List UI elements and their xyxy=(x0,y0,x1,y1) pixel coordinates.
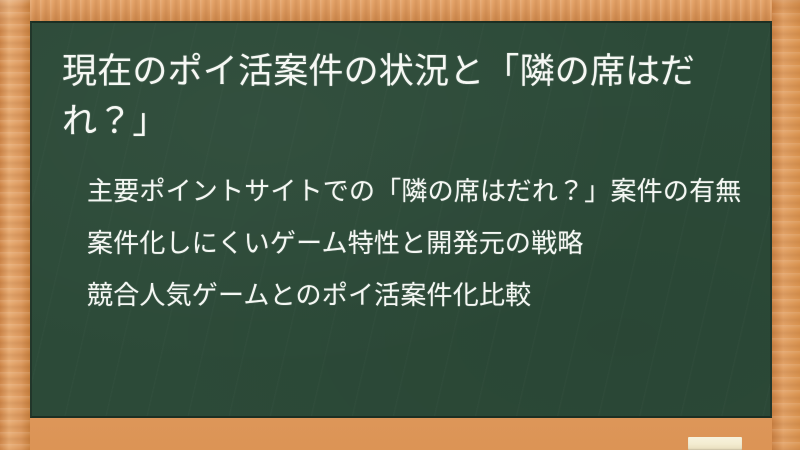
frame-rail-top xyxy=(0,0,800,21)
frame-rail-left xyxy=(0,0,30,450)
chalk-stick-icon xyxy=(688,437,742,450)
frame-ledge-bottom xyxy=(0,418,800,450)
frame-rail-right xyxy=(772,0,800,450)
chalkboard-slide: 現在のポイ活案件の状況と「隣の席はだれ？」 主要ポイントサイトでの「隣の席はだれ… xyxy=(0,0,800,450)
chalkboard-surface: 現在のポイ活案件の状況と「隣の席はだれ？」 主要ポイントサイトでの「隣の席はだれ… xyxy=(30,21,772,418)
bullet-item: 案件化しにくいゲーム特性と開発元の戦略 xyxy=(87,225,747,263)
slide-content: 現在のポイ活案件の状況と「隣の席はだれ？」 主要ポイントサイトでの「隣の席はだれ… xyxy=(32,23,770,416)
slide-bullet-list: 主要ポイントサイトでの「隣の席はだれ？」案件の有無 案件化しにくいゲーム特性と開… xyxy=(87,173,747,315)
bullet-item: 主要ポイントサイトでの「隣の席はだれ？」案件の有無 xyxy=(87,173,747,211)
slide-title: 現在のポイ活案件の状況と「隣の席はだれ？」 xyxy=(62,47,740,147)
bullet-item: 競合人気ゲームとのポイ活案件化比較 xyxy=(87,277,747,315)
